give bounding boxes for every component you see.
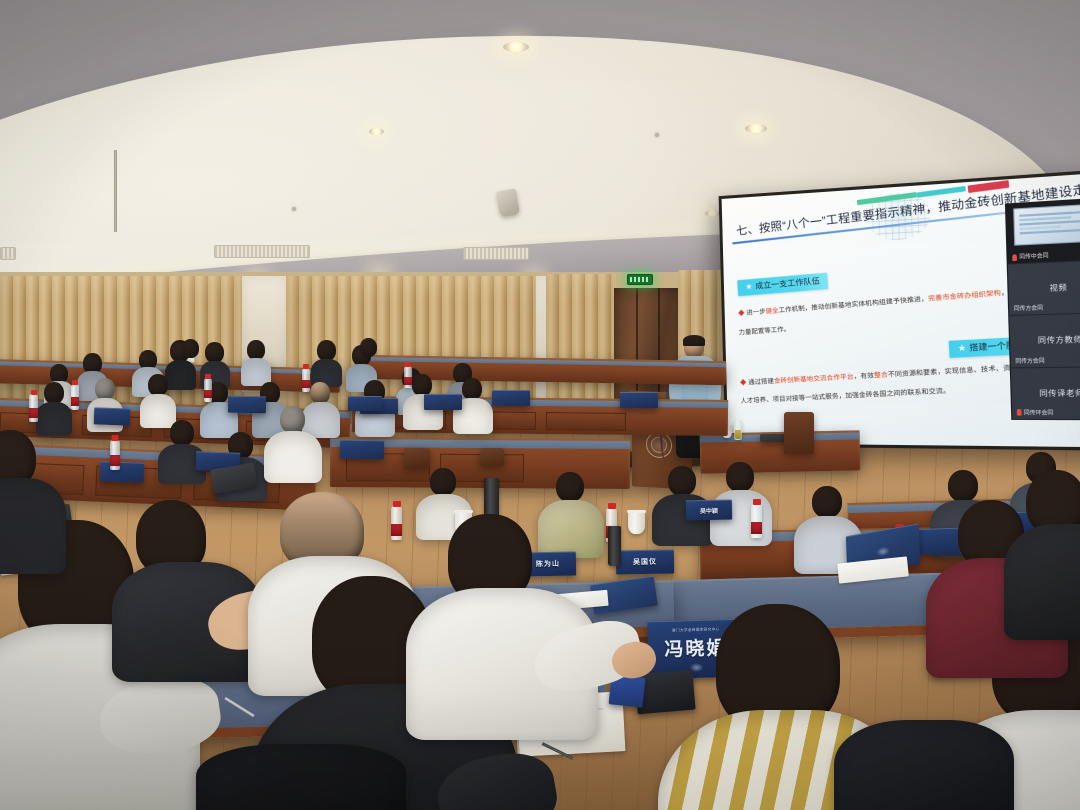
water-bottle xyxy=(29,394,38,422)
name-card-name: 吴中颖 xyxy=(700,505,718,514)
torso xyxy=(834,720,1014,810)
table-name-card xyxy=(228,396,266,414)
speaker-hair xyxy=(683,335,705,346)
head xyxy=(280,406,305,433)
cup-lid xyxy=(627,510,646,513)
torso xyxy=(0,478,66,574)
vc-tile-3[interactable]: 同传方教师 同传方会同 xyxy=(1009,314,1080,369)
conference-room-photo: 七、按照“八个一”工程重要指示精神，推动金砖创新基地建设走深走实 ★ 成立一支工… xyxy=(0,0,1080,810)
torso xyxy=(538,500,604,558)
ceiling-rod xyxy=(114,150,117,232)
head xyxy=(182,339,199,358)
bottle-cap xyxy=(405,362,411,367)
head xyxy=(148,374,168,396)
water-bottle xyxy=(391,506,402,540)
bottle-cap xyxy=(31,390,37,395)
head xyxy=(310,382,330,404)
head xyxy=(317,340,336,361)
bottle-cap xyxy=(72,380,78,385)
video-conference-sidebar[interactable]: 同传中会同 视频 同传方会同 同传方教师 同传方会同 xyxy=(1005,197,1080,420)
vc-tile-2-center-name: 视频 xyxy=(1049,282,1067,294)
bottle-label xyxy=(71,397,79,406)
head xyxy=(247,340,265,360)
ac-vent xyxy=(0,247,16,260)
bullet-dot-icon: ◆ xyxy=(738,310,745,318)
table-name-card xyxy=(492,390,530,406)
bottle-cap xyxy=(112,435,119,441)
bullet-dot-icon: ◆ xyxy=(740,379,747,386)
vc-participant-name: 同传中会同 xyxy=(1012,252,1049,261)
sprinkler-icon xyxy=(292,207,296,211)
presentation-slide: 七、按照“八个一”工程重要指示精神，推动金砖创新基地建设走深走实 ★ 成立一支工… xyxy=(722,172,1080,447)
downlight-icon xyxy=(745,124,767,133)
vc-tile-4[interactable]: 同传译老师 同传环会同 xyxy=(1011,367,1080,420)
head xyxy=(462,378,482,400)
table-name-card xyxy=(348,396,382,411)
name-card-name xyxy=(109,413,115,420)
bottle-label xyxy=(302,380,310,388)
table-name-card xyxy=(100,461,145,483)
projection-screen: 七、按照“八个一”工程重要指示精神，推动金砖创新基地建设走深走实 ★ 成立一支工… xyxy=(719,169,1080,451)
vc-tile-4-center-name: 同传译老师 xyxy=(1039,388,1080,399)
torso xyxy=(1004,524,1080,640)
bottle-label xyxy=(204,390,212,398)
cup-lid xyxy=(454,510,473,513)
bottle-cap xyxy=(205,374,211,379)
table-name-card xyxy=(340,440,384,460)
sprinkler-icon xyxy=(655,133,659,137)
downlight-icon xyxy=(503,42,529,52)
head xyxy=(668,466,696,496)
table-name-card xyxy=(94,407,131,425)
table-name-card xyxy=(424,394,462,410)
bottle-cap xyxy=(303,364,309,369)
head xyxy=(95,378,115,400)
shared-screen-thumbnail xyxy=(1013,203,1080,245)
table-name-card xyxy=(620,392,658,408)
vc-tile-3-center-name: 同传方教师 xyxy=(1038,335,1080,347)
bottle-label xyxy=(110,455,120,466)
slide-bullet-2-cont: 人才培养、项目对接等一站式服务，加强金砖各国之间的联系和交流。 xyxy=(740,386,950,406)
ac-vent xyxy=(463,247,529,260)
bottle-label xyxy=(404,377,412,385)
desk-front-panel xyxy=(546,412,626,431)
downlight-icon xyxy=(369,128,384,135)
head xyxy=(948,470,978,502)
exit-sign xyxy=(627,274,653,285)
travel-mug xyxy=(608,526,621,566)
mic-muted-icon xyxy=(1012,254,1017,261)
torso xyxy=(36,402,72,436)
tea-liquid xyxy=(735,430,741,439)
slide-tag-1-label: 成立一支工作队伍 xyxy=(755,277,820,290)
slide-bullet-1-cont: 力量配置等工作。 xyxy=(739,325,791,338)
star-icon: ★ xyxy=(745,283,753,292)
head xyxy=(412,374,432,396)
ac-vent xyxy=(214,245,310,258)
booklet-emblem-icon xyxy=(876,545,890,557)
vc-participant-name: 同传方会同 xyxy=(1015,357,1044,365)
water-bottle xyxy=(302,368,310,392)
head xyxy=(726,462,754,492)
vc-tile-screenshare[interactable]: 同传中会同 xyxy=(1006,197,1080,264)
stage-water-glass xyxy=(734,420,742,440)
vc-tile-2[interactable]: 视频 同传方会同 xyxy=(1008,260,1080,316)
name-card-name: 陈为山 xyxy=(536,559,560,569)
downlight-icon xyxy=(705,210,720,217)
torso xyxy=(196,744,406,810)
head xyxy=(812,486,842,518)
water-bottle xyxy=(404,366,412,388)
vc-participant-name: 同传方会同 xyxy=(1014,304,1043,313)
paper-cup xyxy=(628,512,645,534)
shared-screen-lines xyxy=(1019,210,1080,236)
torso xyxy=(140,394,176,428)
bottle-label xyxy=(391,524,402,536)
name-card-org: 厦门大学金砖国家研究中心 xyxy=(672,626,720,633)
star-icon: ★ xyxy=(958,344,967,353)
water-bottle xyxy=(204,378,212,402)
chair xyxy=(480,448,504,466)
vc-participant-name: 同传环会同 xyxy=(1017,409,1054,417)
screen-frame: 七、按照“八个一”工程重要指示精神，推动金砖创新基地建设走深走实 ★ 成立一支工… xyxy=(719,169,1080,451)
head xyxy=(360,338,377,357)
stage-chair xyxy=(784,412,814,454)
slide-tag-1: ★ 成立一支工作队伍 xyxy=(737,273,828,297)
head xyxy=(205,342,224,363)
name-card-row2-right: 吴国仪 xyxy=(616,549,674,574)
water-bottle xyxy=(751,504,762,538)
bottle-cap xyxy=(753,499,761,505)
bottle-label xyxy=(29,408,38,418)
torso xyxy=(165,360,196,390)
head xyxy=(44,382,64,404)
head xyxy=(556,472,584,502)
mic-muted-icon xyxy=(1017,410,1022,417)
bottle-label xyxy=(751,522,762,534)
ceiling-speaker-icon xyxy=(496,188,520,217)
name-card-name: 吴国仪 xyxy=(633,557,657,567)
bottle-cap xyxy=(393,501,401,507)
name-card-row3-center: 吴中颖 xyxy=(686,500,732,521)
bottle-cap xyxy=(608,503,616,509)
head xyxy=(430,468,456,496)
water-bottle xyxy=(110,440,120,470)
head xyxy=(170,420,194,446)
chair xyxy=(404,448,430,468)
torso xyxy=(264,431,322,483)
water-bottle xyxy=(71,384,79,410)
